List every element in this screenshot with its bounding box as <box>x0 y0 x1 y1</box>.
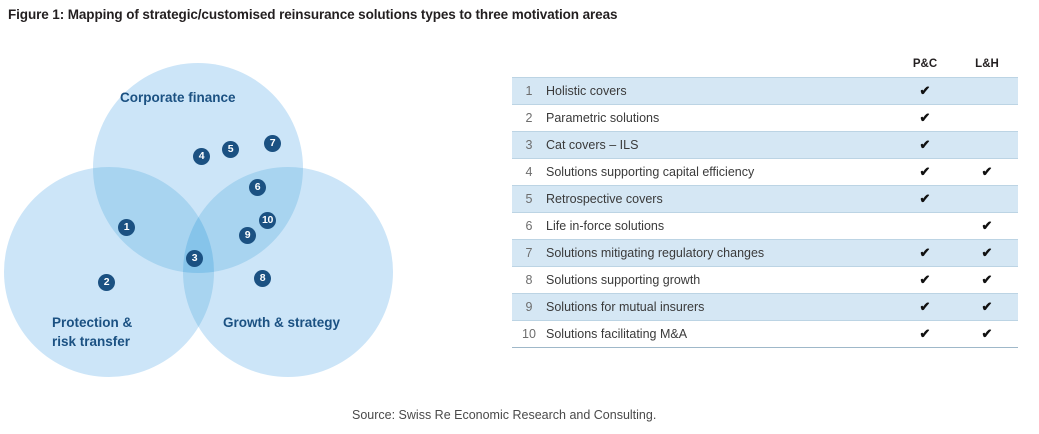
row-check-lh <box>956 78 1018 105</box>
row-number: 8 <box>512 267 546 294</box>
row-check-pc <box>894 213 956 240</box>
venn-label-protection-risk-transfer: Protection & risk transfer <box>52 313 132 351</box>
venn-marker-10: 10 <box>259 212 276 229</box>
table-row: 3 Cat covers – ILS ✔ <box>512 132 1018 159</box>
table-row: 5 Retrospective covers ✔ <box>512 186 1018 213</box>
venn-label-corporate-finance: Corporate finance <box>120 88 236 107</box>
page-title: Figure 1: Mapping of strategic/customise… <box>8 7 617 22</box>
table-row: 6 Life in-force solutions ✔ <box>512 213 1018 240</box>
table-row: 1 Holistic covers ✔ <box>512 78 1018 105</box>
row-check-lh <box>956 132 1018 159</box>
row-label: Retrospective covers <box>546 186 894 213</box>
row-label: Life in-force solutions <box>546 213 894 240</box>
venn-diagram: Corporate finance Protection & risk tran… <box>0 55 420 385</box>
row-label: Solutions facilitating M&A <box>546 321 894 348</box>
venn-marker-5: 5 <box>222 141 239 158</box>
venn-label-protection-line2: risk transfer <box>52 332 132 351</box>
row-number: 5 <box>512 186 546 213</box>
row-number: 2 <box>512 105 546 132</box>
row-check-lh: ✔ <box>956 321 1018 348</box>
row-check-pc: ✔ <box>894 186 956 213</box>
row-number: 7 <box>512 240 546 267</box>
table-row: 7 Solutions mitigating regulatory change… <box>512 240 1018 267</box>
row-label: Solutions mitigating regulatory changes <box>546 240 894 267</box>
table-row: 4 Solutions supporting capital efficienc… <box>512 159 1018 186</box>
row-check-pc: ✔ <box>894 78 956 105</box>
row-label: Parametric solutions <box>546 105 894 132</box>
row-label: Solutions supporting capital efficiency <box>546 159 894 186</box>
row-check-lh: ✔ <box>956 240 1018 267</box>
row-check-pc: ✔ <box>894 159 956 186</box>
row-check-lh: ✔ <box>956 294 1018 321</box>
row-check-lh: ✔ <box>956 159 1018 186</box>
row-number: 3 <box>512 132 546 159</box>
row-check-pc: ✔ <box>894 240 956 267</box>
table-header-pc: P&C <box>894 58 956 78</box>
row-check-lh: ✔ <box>956 213 1018 240</box>
row-label: Holistic covers <box>546 78 894 105</box>
venn-marker-1: 1 <box>118 219 135 236</box>
row-number: 9 <box>512 294 546 321</box>
row-label: Cat covers – ILS <box>546 132 894 159</box>
table-body: 1 Holistic covers ✔ 2 Parametric solutio… <box>512 78 1018 348</box>
table-row: 9 Solutions for mutual insurers ✔ ✔ <box>512 294 1018 321</box>
table-header-lh: L&H <box>956 58 1018 78</box>
row-number: 4 <box>512 159 546 186</box>
row-check-pc: ✔ <box>894 321 956 348</box>
row-number: 10 <box>512 321 546 348</box>
venn-label-growth-strategy: Growth & strategy <box>223 313 340 332</box>
table-row: 10 Solutions facilitating M&A ✔ ✔ <box>512 321 1018 348</box>
venn-marker-3: 3 <box>186 250 203 267</box>
solutions-table: P&C L&H 1 Holistic covers ✔ 2 Parametric… <box>512 58 1018 348</box>
table-header-solution <box>546 58 894 78</box>
row-check-lh <box>956 105 1018 132</box>
source-note: Source: Swiss Re Economic Research and C… <box>352 408 656 422</box>
row-check-lh <box>956 186 1018 213</box>
row-label: Solutions for mutual insurers <box>546 294 894 321</box>
venn-label-protection-line1: Protection & <box>52 313 132 332</box>
row-number: 1 <box>512 78 546 105</box>
venn-marker-6: 6 <box>249 179 266 196</box>
venn-marker-9: 9 <box>239 227 256 244</box>
table-row: 2 Parametric solutions ✔ <box>512 105 1018 132</box>
table-row: 8 Solutions supporting growth ✔ ✔ <box>512 267 1018 294</box>
row-label: Solutions supporting growth <box>546 267 894 294</box>
venn-marker-2: 2 <box>98 274 115 291</box>
row-check-pc: ✔ <box>894 105 956 132</box>
row-number: 6 <box>512 213 546 240</box>
row-check-lh: ✔ <box>956 267 1018 294</box>
venn-marker-7: 7 <box>264 135 281 152</box>
venn-marker-8: 8 <box>254 270 271 287</box>
row-check-pc: ✔ <box>894 267 956 294</box>
row-check-pc: ✔ <box>894 294 956 321</box>
table-header-number <box>512 58 546 78</box>
venn-marker-4: 4 <box>193 148 210 165</box>
table-header-row: P&C L&H <box>512 58 1018 78</box>
row-check-pc: ✔ <box>894 132 956 159</box>
